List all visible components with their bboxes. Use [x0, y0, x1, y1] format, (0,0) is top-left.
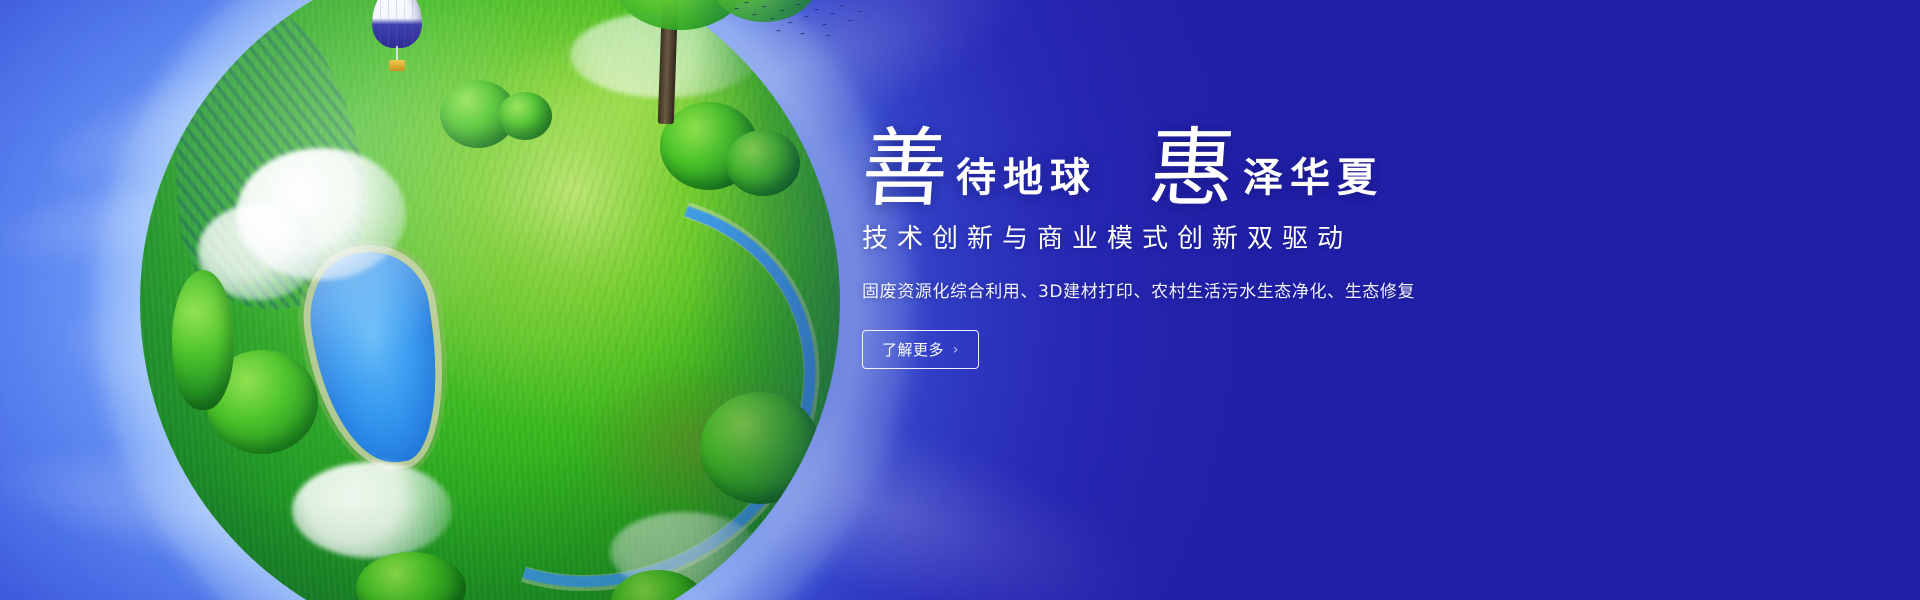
hero-subtitle: 技术创新与商业模式创新双驱动 — [862, 218, 1562, 255]
headline-char-primary-2: 惠 — [1146, 126, 1238, 212]
page-title: 善 待地球 惠 泽华夏 — [862, 118, 1562, 204]
hero-content: 善 待地球 惠 泽华夏 技术创新与商业模式创新双驱动 固废资源化综合利用、3D建… — [862, 118, 1562, 369]
headline-char-primary-1: 善 — [859, 126, 951, 212]
learn-more-button[interactable]: 了解更多 › — [862, 330, 979, 369]
headline-text-1: 待地球 — [956, 158, 1097, 198]
hero-banner: 善 待地球 惠 泽华夏 技术创新与商业模式创新双驱动 固废资源化综合利用、3D建… — [0, 0, 1920, 600]
learn-more-label: 了解更多 — [882, 339, 944, 360]
headline-text-2: 泽华夏 — [1243, 158, 1384, 198]
hero-description: 固废资源化综合利用、3D建材打印、农村生活污水生态净化、生态修复 — [862, 277, 1562, 302]
chevron-right-icon: › — [953, 343, 959, 357]
